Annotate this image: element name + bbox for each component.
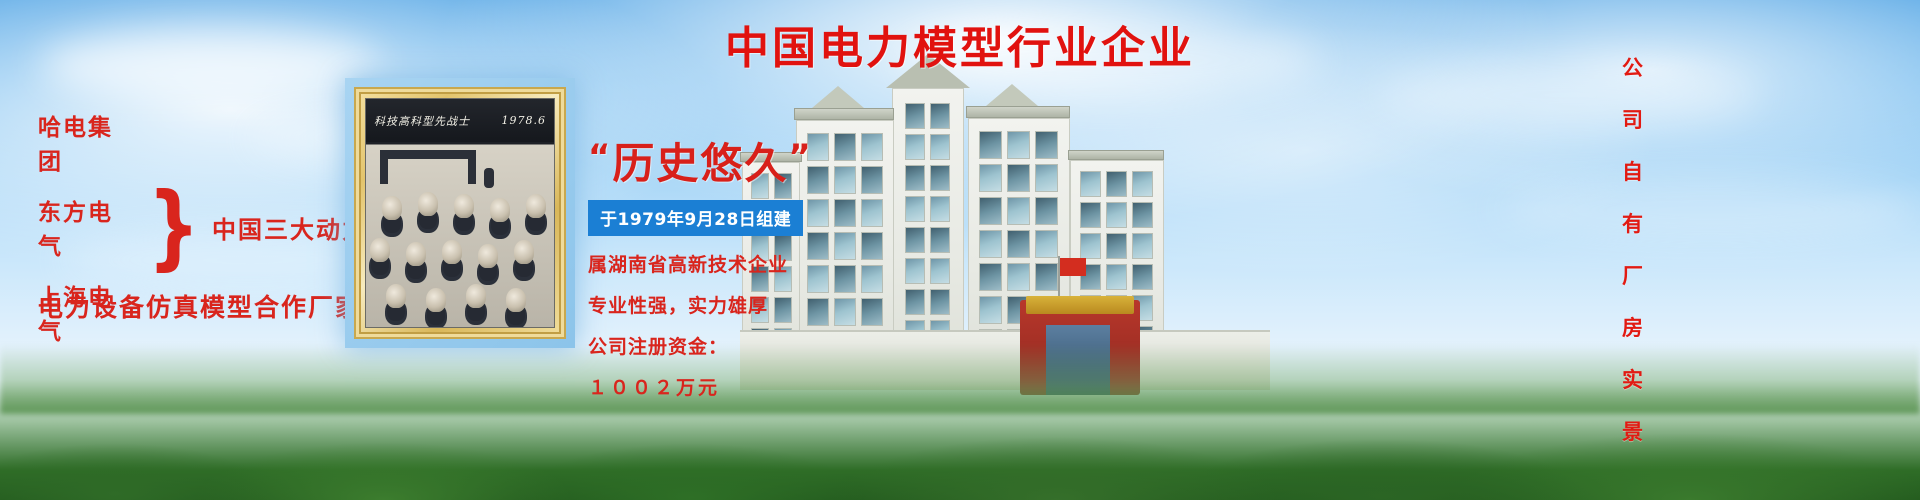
person-head <box>514 240 534 264</box>
window <box>1035 197 1058 225</box>
detail-line: 公司注册资金： <box>588 332 888 359</box>
window <box>1035 131 1058 159</box>
gate-signboard <box>1026 296 1134 314</box>
left-wing-roof <box>794 108 894 120</box>
window <box>905 196 925 222</box>
window <box>930 196 950 222</box>
vertical-caption: 公 司 自 有 厂 房 实 景 <box>1622 52 1643 446</box>
vertical-char: 公 <box>1622 52 1643 82</box>
cloud-decoration <box>1500 180 1920 240</box>
person-head <box>526 194 546 218</box>
photo-caption-text: 科技高科型先战士 <box>374 113 470 129</box>
window <box>1080 171 1101 197</box>
window <box>930 134 950 160</box>
photo-caption-date: 1978.6 <box>502 114 547 127</box>
window <box>1007 197 1030 225</box>
window <box>905 165 925 191</box>
headline-text: 历史悠久 <box>612 139 788 188</box>
window <box>1132 264 1153 290</box>
window <box>1035 263 1058 291</box>
person-head <box>466 284 486 308</box>
vertical-char: 景 <box>1622 416 1643 446</box>
vertical-char: 有 <box>1622 208 1643 238</box>
window <box>1106 233 1127 259</box>
quote-close: ” <box>788 137 812 177</box>
vertical-char: 实 <box>1622 364 1643 394</box>
detail-line: 专业性强，实力雄厚 <box>588 291 888 318</box>
vertical-char: 自 <box>1622 156 1643 186</box>
window <box>979 164 1002 192</box>
historic-photo-frame: 科技高科型先战士 1978.6 <box>345 78 575 348</box>
right-wing-roof <box>966 106 1070 118</box>
window <box>1132 171 1153 197</box>
window <box>1132 202 1153 228</box>
background-furniture <box>468 150 476 184</box>
founding-date-badge: 于1979年9月28日组建 <box>588 200 803 236</box>
list-item: 哈电集团 <box>38 108 127 176</box>
background-furniture <box>484 168 494 188</box>
window <box>930 258 950 284</box>
curly-brace-icon: } <box>147 194 199 260</box>
background-furniture <box>380 150 388 184</box>
person-head <box>418 192 438 216</box>
window <box>905 134 925 160</box>
window <box>1106 171 1127 197</box>
detail-line: 属湖南省高新技术企业 <box>588 250 888 277</box>
window <box>1007 263 1030 291</box>
vertical-char: 司 <box>1622 104 1643 134</box>
window <box>930 103 950 129</box>
national-flag <box>1060 258 1086 276</box>
promo-banner: 中国电力模型行业企业 哈电集团 东方电气 上海电气 } 中国三大动力 电力设备仿… <box>0 0 1920 500</box>
vertical-char: 厂 <box>1622 260 1643 290</box>
window <box>979 131 1002 159</box>
history-headline: “历史悠久” <box>588 130 888 191</box>
historic-group-photo: 科技高科型先战士 1978.6 <box>365 98 555 328</box>
person-head <box>454 194 474 218</box>
person-head <box>490 198 510 222</box>
window <box>979 263 1002 291</box>
window <box>930 289 950 315</box>
list-item: 东方电气 <box>38 193 127 261</box>
window <box>979 230 1002 258</box>
window <box>1106 202 1127 228</box>
person-head <box>478 244 498 268</box>
window <box>905 258 925 284</box>
registered-capital-amount: １００２万元 <box>588 373 888 400</box>
window <box>1106 264 1127 290</box>
person-head <box>506 288 526 312</box>
window <box>1035 230 1058 258</box>
quote-open: “ <box>588 137 612 177</box>
window <box>905 103 925 129</box>
far-right-wing-roof <box>1068 150 1164 160</box>
window <box>1080 233 1101 259</box>
vertical-char: 房 <box>1622 312 1643 342</box>
window <box>979 197 1002 225</box>
window <box>1132 233 1153 259</box>
person-head <box>386 284 406 308</box>
person-head <box>442 240 462 264</box>
window <box>979 296 1002 324</box>
window <box>905 227 925 253</box>
window <box>930 227 950 253</box>
photo-banner-caption: 科技高科型先战士 1978.6 <box>366 99 554 142</box>
window <box>930 165 950 191</box>
right-wing-gable <box>986 84 1038 106</box>
window <box>1007 164 1030 192</box>
photo-frame-molding: 科技高科型先战士 1978.6 <box>354 87 566 339</box>
person-head <box>406 242 426 266</box>
person-head <box>370 238 390 262</box>
window <box>905 289 925 315</box>
window <box>1007 131 1030 159</box>
tower-windows <box>905 103 950 346</box>
window <box>1080 202 1101 228</box>
window <box>1035 164 1058 192</box>
window <box>1007 230 1030 258</box>
photo-people-group <box>366 142 554 327</box>
person-head <box>426 288 446 312</box>
background-furniture <box>380 150 476 159</box>
partner-tagline: 电力设备仿真模型合作厂家 <box>38 288 362 324</box>
center-text-block: “历史悠久” 于1979年9月28日组建 属湖南省高新技术企业 专业性强，实力雄… <box>588 130 888 400</box>
person-head <box>382 196 402 220</box>
left-wing-gable <box>812 86 864 108</box>
